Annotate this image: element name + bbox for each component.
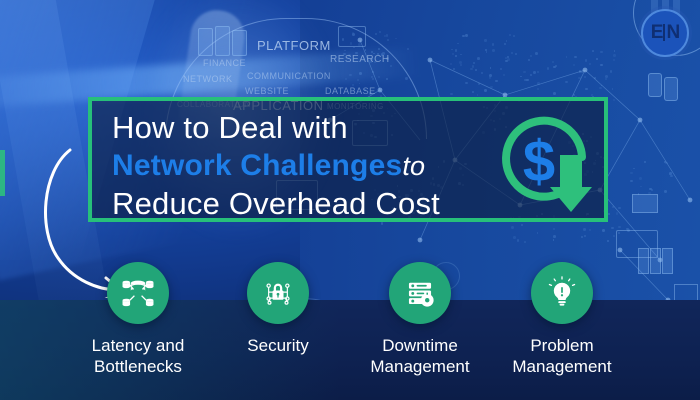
feature-label-security: Security	[198, 335, 358, 356]
feature-item-problem[interactable]: Problem Management	[482, 262, 642, 377]
feature-label-line1: Latency and	[92, 336, 185, 355]
dollar-symbol: $	[523, 129, 555, 194]
feature-label-line1: Downtime	[382, 336, 458, 355]
headline-suffix: to	[402, 151, 425, 181]
headline-highlight: Network Challenges	[112, 149, 402, 182]
dollar-down-arrow-icon: $	[492, 111, 598, 215]
network-lock-icon	[247, 262, 309, 324]
word-cloud-term: FINANCE	[203, 58, 246, 68]
feature-row: Latency and Bottlenecks	[0, 262, 700, 400]
database-cluster-icon	[107, 262, 169, 324]
headline-box: How to Deal with Network Challengesto Re…	[88, 97, 608, 222]
feature-item-security[interactable]: Security	[198, 262, 358, 356]
headline-line-1: How to Deal with	[112, 109, 484, 147]
feature-label-line2: Bottlenecks	[94, 357, 182, 376]
word-cloud-term: Research	[330, 54, 390, 65]
lightbulb-alert-icon	[531, 262, 593, 324]
word-cloud-term: DATABASE	[325, 86, 376, 96]
en-logo[interactable]: EN	[641, 9, 689, 57]
feature-label-downtime: Downtime Management	[340, 335, 500, 377]
word-cloud-term: NETWORK	[183, 74, 233, 84]
server-rack-icon-a	[648, 73, 662, 97]
headline-line-2: Network Challengesto	[112, 147, 484, 185]
en-logo-left-letter: E	[651, 22, 663, 43]
feature-item-latency[interactable]: Latency and Bottlenecks	[58, 262, 218, 377]
envelope-icon	[632, 194, 658, 213]
feature-label-problem: Problem Management	[482, 335, 642, 377]
word-cloud-term: COMMUNICATION	[247, 71, 331, 81]
banner-canvas: PLATFORMFINANCEResearchCOMMUNICATIONNETW…	[0, 0, 700, 400]
headline-text-group: How to Deal with Network Challengesto Re…	[112, 109, 484, 223]
en-logo-text: EN	[651, 22, 679, 44]
feature-label-line1: Problem	[530, 336, 593, 355]
feature-item-downtime[interactable]: Downtime Management	[340, 262, 500, 377]
headline-line-3: Reduce Overhead Cost	[112, 185, 484, 223]
word-cloud-term: PLATFORM	[257, 38, 331, 53]
server-rack-icon-b	[664, 77, 678, 101]
left-green-accent	[0, 150, 5, 196]
laptop-icon	[616, 230, 658, 258]
feature-label-latency: Latency and Bottlenecks	[58, 335, 218, 377]
word-cloud-term: WEBSITE	[245, 86, 289, 96]
feature-label-line1: Security	[247, 336, 308, 355]
en-logo-right-letter: N	[666, 22, 679, 43]
feature-label-line2: Management	[370, 357, 469, 376]
server-gear-icon	[389, 262, 451, 324]
feature-label-line2: Management	[512, 357, 611, 376]
